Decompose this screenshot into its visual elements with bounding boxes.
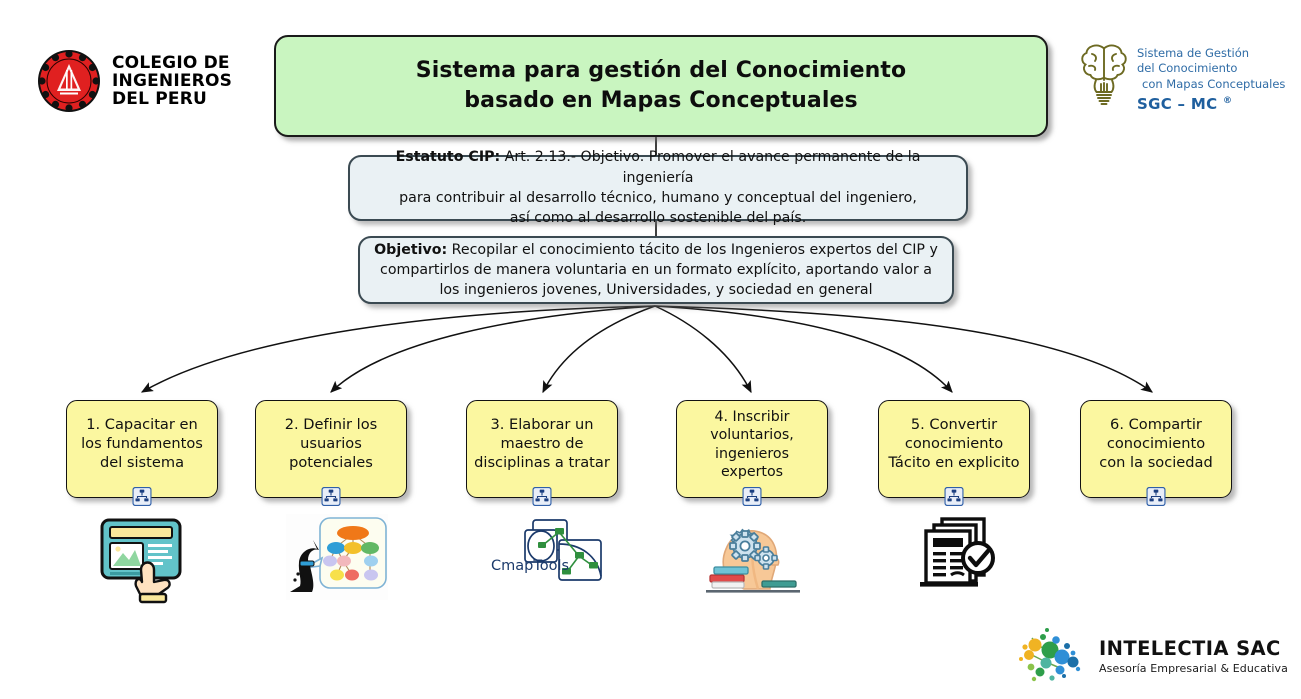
cmaptools-label: CmapTools (491, 558, 569, 574)
step-card-6[interactable]: 6. Compartir conocimiento con la socieda… (1080, 400, 1232, 498)
step-1-line-1: 1. Capacitar en (74, 416, 210, 435)
brain-bulb-icon (1078, 40, 1130, 108)
sgc-brand-text: SGC – MC (1137, 95, 1217, 113)
step-card-3[interactable]: 3. Elaborar un maestro de disciplinas a … (466, 400, 618, 498)
title-line-1: Sistema para gestión del Conocimiento (416, 56, 906, 86)
documents-check-icon (916, 513, 1000, 599)
head-concept-map-icon (286, 514, 388, 604)
statute-line-2: para contribuir al desarrollo técnico, h… (362, 188, 954, 208)
objective-line-3: los ingenieros jovenes, Universidades, y… (374, 280, 938, 300)
step-5-line-3: Tácito en explicito (886, 454, 1022, 473)
step-5-line-2: conocimiento (886, 435, 1022, 454)
diagram-canvas: COLEGIO DE INGENIEROS DEL PERU (0, 0, 1301, 699)
step-2-line-1: 2. Definir los (263, 416, 399, 435)
step-card-4[interactable]: 4. Inscribir voluntarios, ingenieros exp… (676, 400, 828, 498)
step-4-line-1: 4. Inscribir (684, 408, 820, 426)
intelectia-logo-text: INTELECTIA SAC Asesoría Empresarial & Ed… (1099, 638, 1288, 676)
step-5-line-1: 5. Convertir (886, 416, 1022, 435)
cmaptools-logo: CmapTools (489, 518, 607, 584)
step-6-line-1: 6. Compartir (1088, 416, 1224, 435)
step-card-4-box[interactable]: 4. Inscribir voluntarios, ingenieros exp… (676, 400, 828, 498)
sgc-line-1: Sistema de Gestión (1137, 46, 1285, 61)
network-brain-icon (1016, 628, 1090, 686)
intelectia-tagline: Asesoría Empresarial & Educativa (1099, 663, 1288, 676)
step-card-5-box[interactable]: 5. Convertir conocimiento Tácito en expl… (878, 400, 1030, 498)
step-2-line-3: potenciales (263, 454, 399, 473)
step-4-line-2: voluntarios, (684, 426, 820, 444)
hierarchy-icon (322, 487, 341, 506)
step-4-line-4: expertos (684, 463, 820, 481)
sgc-brand: SGC – MC ® (1137, 95, 1285, 115)
head-gears-books-icon (706, 513, 800, 605)
statute-line-1: Estatuto CIP: Art. 2.13.- Objetivo. Prom… (362, 147, 954, 188)
objective-text-1: Recopilar el conocimiento tácito de los … (447, 242, 938, 258)
hierarchy-icon (533, 487, 552, 506)
intelectia-logo: INTELECTIA SAC Asesoría Empresarial & Ed… (1016, 626, 1298, 688)
step-1-line-3: del sistema (74, 454, 210, 473)
tablet-hand-icon (96, 512, 188, 608)
cip-line-3: DEL PERU (112, 90, 232, 108)
objective-line-1: Objetivo: Recopilar el conocimiento táci… (374, 240, 938, 260)
cip-seal-icon (36, 48, 102, 114)
hierarchy-icon (1147, 487, 1166, 506)
cip-logo-text: COLEGIO DE INGENIEROS DEL PERU (112, 54, 232, 108)
step-1-line-2: los fundamentos (74, 435, 210, 454)
intelectia-title: INTELECTIA SAC (1099, 638, 1288, 660)
objective-label: Objetivo: (374, 242, 447, 258)
step-3-line-3: disciplinas a tratar (474, 454, 610, 473)
step-6-line-2: conocimiento (1088, 435, 1224, 454)
sgc-line-3: con Mapas Conceptuales (1137, 77, 1285, 92)
objective-box: Objetivo: Recopilar el conocimiento táci… (358, 236, 954, 304)
cip-logo: COLEGIO DE INGENIEROS DEL PERU (36, 42, 276, 120)
statute-text-1: Art. 2.13.- Objetivo. Promover el avance… (500, 149, 920, 185)
step-card-6-box[interactable]: 6. Compartir conocimiento con la socieda… (1080, 400, 1232, 498)
objective-line-2: compartirlos de manera voluntaria en un … (374, 260, 938, 280)
step-card-2-box[interactable]: 2. Definir los usuarios potenciales (255, 400, 407, 498)
title-line-2: basado en Mapas Conceptuales (416, 86, 906, 116)
registered-mark: ® (1223, 96, 1232, 106)
cip-line-2: INGENIEROS (112, 72, 232, 90)
cip-line-1: COLEGIO DE (112, 54, 232, 72)
step-card-1-box[interactable]: 1. Capacitar en los fundamentos del sist… (66, 400, 218, 498)
step-6-line-3: con la sociedad (1088, 454, 1224, 473)
step-card-3-box[interactable]: 3. Elaborar un maestro de disciplinas a … (466, 400, 618, 498)
sgc-mc-logo: Sistema de Gestión del Conocimiento con … (1078, 40, 1301, 122)
hierarchy-icon (743, 487, 762, 506)
step-card-5[interactable]: 5. Convertir conocimiento Tácito en expl… (878, 400, 1030, 498)
statute-label: Estatuto CIP: (396, 149, 501, 165)
step-card-1[interactable]: 1. Capacitar en los fundamentos del sist… (66, 400, 218, 498)
statute-line-3: así como al desarrollo sostenible del pa… (362, 208, 954, 228)
step-4-line-3: ingenieros (684, 445, 820, 463)
step-2-line-2: usuarios (263, 435, 399, 454)
step-3-line-1: 3. Elaborar un (474, 416, 610, 435)
diagram-title-box: Sistema para gestión del Conocimiento ba… (274, 35, 1048, 137)
sgc-logo-text: Sistema de Gestión del Conocimiento con … (1137, 40, 1285, 115)
statute-box: Estatuto CIP: Art. 2.13.- Objetivo. Prom… (348, 155, 968, 221)
hierarchy-icon (133, 487, 152, 506)
hierarchy-icon (945, 487, 964, 506)
step-3-line-2: maestro de (474, 435, 610, 454)
step-card-2[interactable]: 2. Definir los usuarios potenciales (255, 400, 407, 498)
sgc-line-2: del Conocimiento (1137, 61, 1285, 76)
